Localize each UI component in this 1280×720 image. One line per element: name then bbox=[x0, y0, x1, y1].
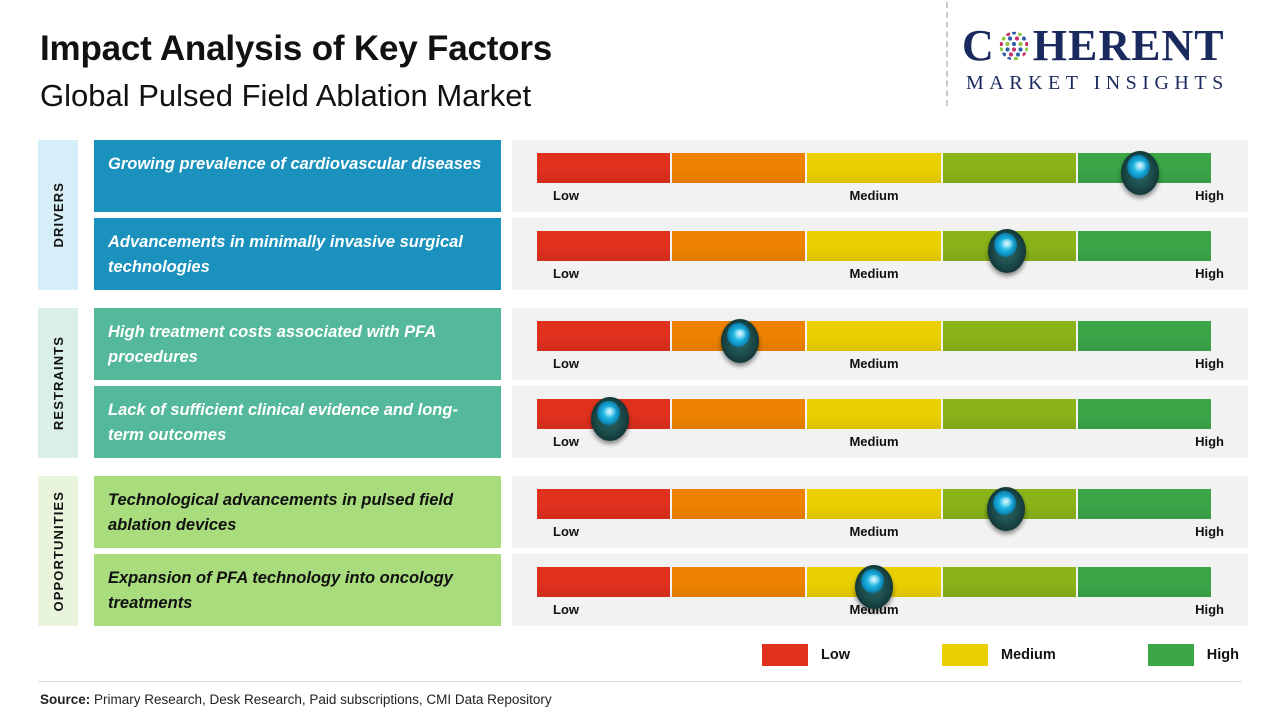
impact-gauge-row: LowMediumHigh bbox=[512, 386, 1248, 458]
group-label-restraints: RESTRAINTS bbox=[38, 308, 78, 458]
gauge-tick-med: Medium bbox=[849, 434, 898, 449]
gauge-segment-2 bbox=[807, 399, 940, 429]
infographic-page: Impact Analysis of Key Factors Global Pu… bbox=[0, 0, 1280, 720]
legend-swatch bbox=[1148, 644, 1194, 666]
gauge-tick-high: High bbox=[1195, 356, 1224, 371]
gauge-tick-labels: LowMediumHigh bbox=[537, 356, 1211, 374]
factor-card: Technological advancements in pulsed fie… bbox=[94, 476, 501, 548]
page-subtitle: Global Pulsed Field Ablation Market bbox=[40, 76, 552, 116]
factor-group: DRIVERSGrowing prevalence of cardiovascu… bbox=[38, 140, 501, 290]
gauge-bar bbox=[537, 399, 1211, 429]
legend-item: High bbox=[1148, 644, 1239, 666]
gauge-tick-low: Low bbox=[553, 266, 579, 281]
gauge-tick-high: High bbox=[1195, 434, 1224, 449]
gauge-segment-4 bbox=[1078, 567, 1211, 597]
gauge-marker-icon[interactable] bbox=[721, 319, 759, 363]
logo-tagline: MARKET INSIGHTS bbox=[962, 72, 1262, 95]
gauge-segment-0 bbox=[537, 153, 670, 183]
gauge-tick-labels: LowMediumHigh bbox=[537, 266, 1211, 284]
gauge-tick-low: Low bbox=[553, 602, 579, 617]
source-note: Source: Primary Research, Desk Research,… bbox=[40, 692, 552, 707]
gauge-tick-low: Low bbox=[553, 524, 579, 539]
gauge-segment-4 bbox=[1078, 231, 1211, 261]
factor-group: OPPORTUNITIESTechnological advancements … bbox=[38, 476, 501, 626]
gauge-segment-3 bbox=[943, 153, 1076, 183]
gauge-segment-3 bbox=[943, 399, 1076, 429]
gauge-marker-icon[interactable] bbox=[855, 565, 893, 609]
group-label-text: RESTRAINTS bbox=[51, 336, 66, 430]
legend-item: Medium bbox=[942, 644, 1056, 666]
gauge-tick-labels: LowMediumHigh bbox=[537, 434, 1211, 452]
factor-group: RESTRAINTSHigh treatment costs associate… bbox=[38, 308, 501, 458]
gauge-segment-1 bbox=[672, 489, 805, 519]
company-logo: C bbox=[962, 22, 1262, 104]
gauge-segment-2 bbox=[807, 231, 940, 261]
gauge-tick-med: Medium bbox=[849, 266, 898, 281]
footer-divider bbox=[38, 681, 1242, 682]
impact-gauge-row: LowMediumHigh bbox=[512, 218, 1248, 290]
gauge-tick-low: Low bbox=[553, 356, 579, 371]
gauge-tick-labels: LowMediumHigh bbox=[537, 524, 1211, 542]
factor-card: Growing prevalence of cardiovascular dis… bbox=[94, 140, 501, 212]
gauge-segment-4 bbox=[1078, 399, 1211, 429]
gauge-segment-0 bbox=[537, 231, 670, 261]
gauge-segment-3 bbox=[943, 567, 1076, 597]
gauge-tick-low: Low bbox=[553, 188, 579, 203]
impact-gauge-row: LowMediumHigh bbox=[512, 140, 1248, 212]
impact-gauge-row: LowMediumHigh bbox=[512, 308, 1248, 380]
gauge-bar bbox=[537, 231, 1211, 261]
gauge-segment-1 bbox=[672, 399, 805, 429]
gauge-tick-low: Low bbox=[553, 434, 579, 449]
legend-label: High bbox=[1207, 647, 1239, 663]
logo-letters-herent: HERENT bbox=[1033, 24, 1225, 68]
gauge-segment-0 bbox=[537, 567, 670, 597]
gauge-segment-1 bbox=[672, 567, 805, 597]
gauge-bar bbox=[537, 321, 1211, 351]
factor-card: Lack of sufficient clinical evidence and… bbox=[94, 386, 501, 458]
group-label-text: OPPORTUNITIES bbox=[51, 491, 66, 611]
gauge-segment-2 bbox=[807, 153, 940, 183]
factor-card: Advancements in minimally invasive surgi… bbox=[94, 218, 501, 290]
logo-letter-c: C bbox=[962, 24, 995, 68]
group-label-drivers: DRIVERS bbox=[38, 140, 78, 290]
gauge-tick-high: High bbox=[1195, 524, 1224, 539]
gauge-marker-icon[interactable] bbox=[1121, 151, 1159, 195]
legend: LowMediumHigh bbox=[762, 644, 1280, 666]
gauge-segment-0 bbox=[537, 489, 670, 519]
gauge-tick-med: Medium bbox=[849, 524, 898, 539]
source-text: Primary Research, Desk Research, Paid su… bbox=[90, 692, 551, 707]
gauge-segment-0 bbox=[537, 321, 670, 351]
gauge-segment-3 bbox=[943, 321, 1076, 351]
gauge-marker-icon[interactable] bbox=[591, 397, 629, 441]
gauge-marker-icon[interactable] bbox=[987, 487, 1025, 531]
gauge-tick-med: Medium bbox=[849, 356, 898, 371]
gauge-tick-high: High bbox=[1195, 188, 1224, 203]
gauge-tick-med: Medium bbox=[849, 188, 898, 203]
gauge-marker-icon[interactable] bbox=[988, 229, 1026, 273]
dashed-divider-icon bbox=[946, 2, 948, 106]
source-label: Source: bbox=[40, 692, 90, 707]
group-label-opportunities: OPPORTUNITIES bbox=[38, 476, 78, 626]
factor-card: High treatment costs associated with PFA… bbox=[94, 308, 501, 380]
factor-card: Expansion of PFA technology into oncolog… bbox=[94, 554, 501, 626]
legend-label: Medium bbox=[1001, 647, 1056, 663]
gauge-bar bbox=[537, 153, 1211, 183]
gauge-tick-high: High bbox=[1195, 266, 1224, 281]
gauge-segment-1 bbox=[672, 153, 805, 183]
gauge-segment-1 bbox=[672, 231, 805, 261]
legend-item: Low bbox=[762, 644, 850, 666]
impact-gauge-row: LowMediumHigh bbox=[512, 476, 1248, 548]
globe-icon bbox=[996, 28, 1032, 64]
gauge-segment-2 bbox=[807, 489, 940, 519]
page-title: Impact Analysis of Key Factors bbox=[40, 28, 552, 70]
gauge-segment-4 bbox=[1078, 321, 1211, 351]
gauge-bar bbox=[537, 489, 1211, 519]
legend-label: Low bbox=[821, 647, 850, 663]
gauge-segment-4 bbox=[1078, 489, 1211, 519]
title-block: Impact Analysis of Key Factors Global Pu… bbox=[40, 28, 552, 116]
header: Impact Analysis of Key Factors Global Pu… bbox=[0, 0, 1280, 130]
gauge-tick-high: High bbox=[1195, 602, 1224, 617]
legend-swatch bbox=[942, 644, 988, 666]
logo-wordmark: C bbox=[962, 22, 1262, 70]
group-label-text: DRIVERS bbox=[51, 182, 66, 248]
gauge-segment-2 bbox=[807, 321, 940, 351]
gauge-tick-labels: LowMediumHigh bbox=[537, 188, 1211, 206]
impact-gauge-row: LowMediumHigh bbox=[512, 554, 1248, 626]
legend-swatch bbox=[762, 644, 808, 666]
